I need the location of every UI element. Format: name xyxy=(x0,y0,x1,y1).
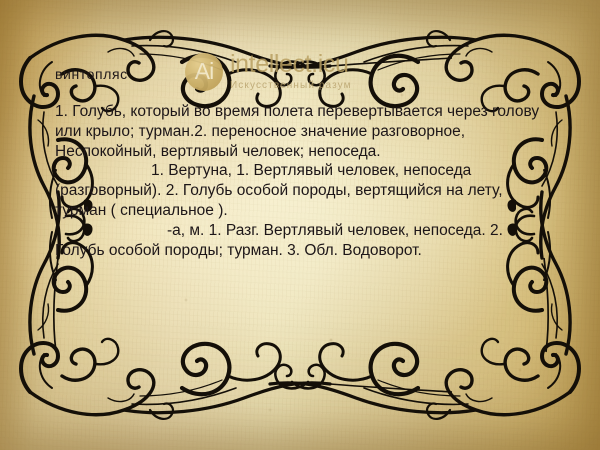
definition-block-2: 1. Вертуна, 1. Вертлявый человек, непосе… xyxy=(55,161,547,220)
definition-block-1: 1. Голубь, который во время полета перев… xyxy=(55,102,547,161)
card-content: винтопляс 1. Голубь, который во время по… xyxy=(55,66,547,261)
parchment-card: Ai intellect.icu Искусственный разум вин… xyxy=(0,0,600,450)
definition-block-3: -а, м. 1. Разг. Вертлявый человек, непос… xyxy=(55,221,547,261)
page-title: винтопляс xyxy=(55,66,547,82)
